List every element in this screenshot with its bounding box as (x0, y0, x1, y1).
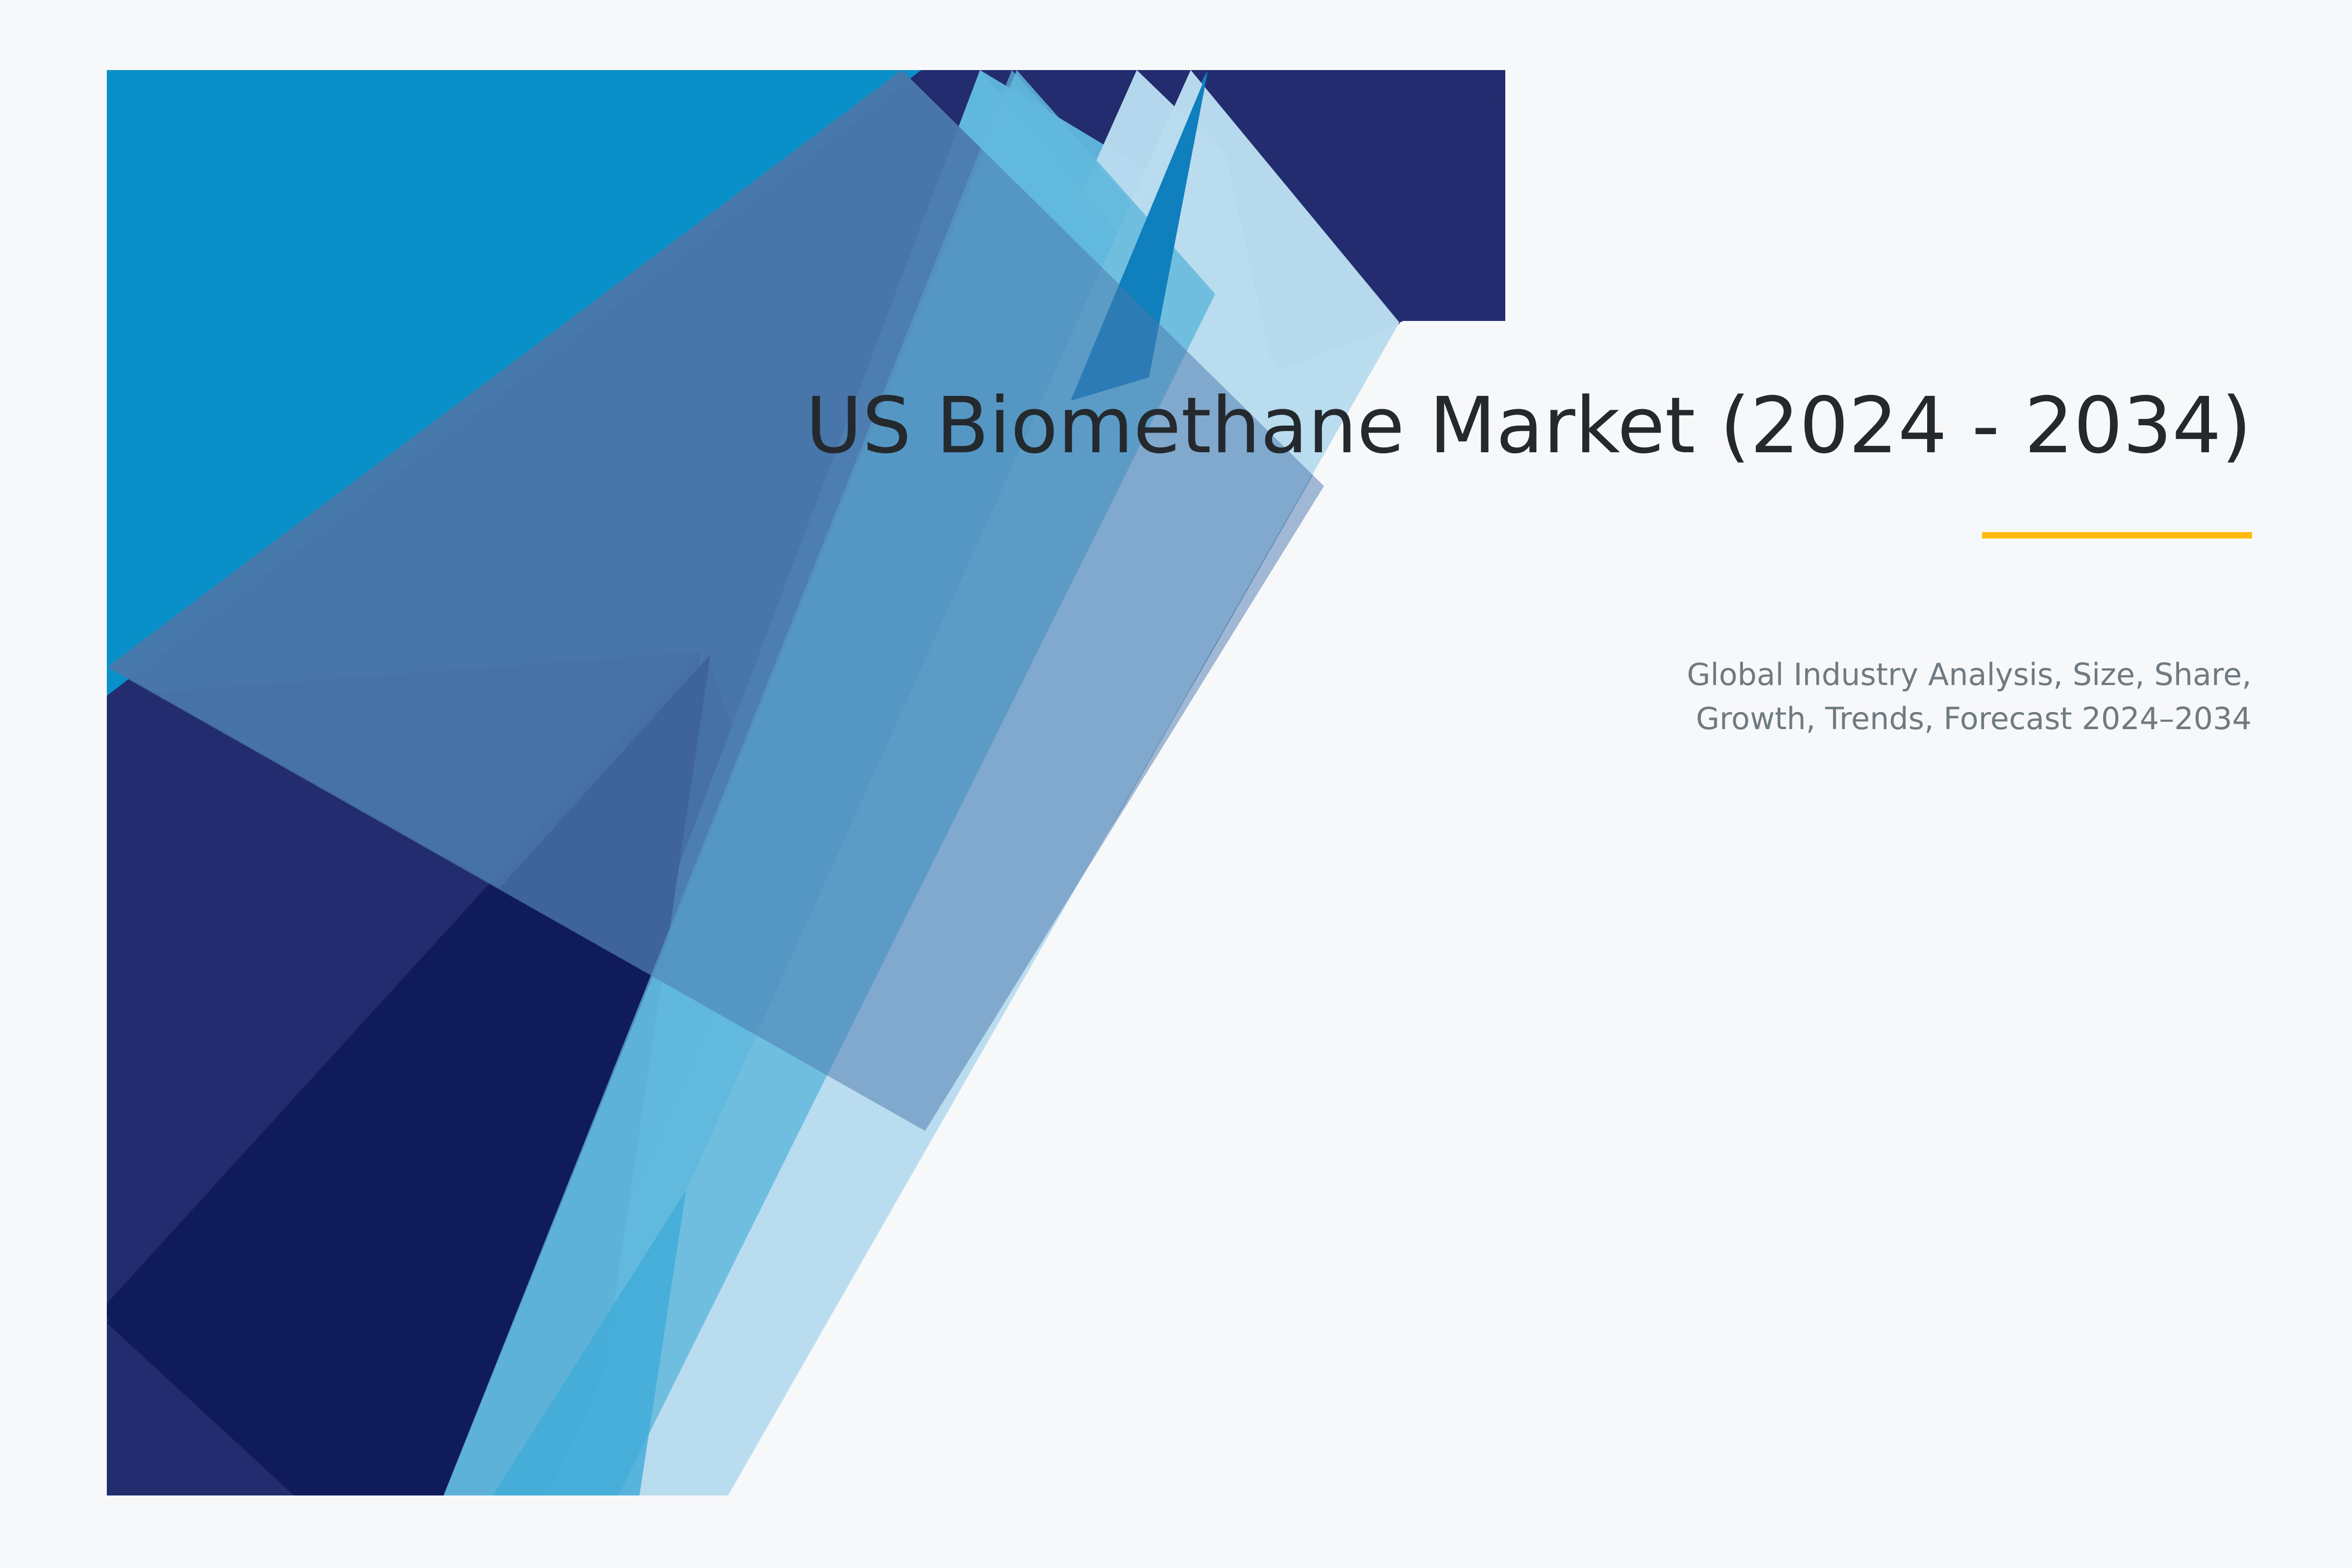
accent-rule (1982, 532, 2252, 539)
subtitle: Global Industry Analysis, Size, Share, G… (1448, 653, 2252, 741)
subtitle-line-2: Growth, Trends, Forecast 2024–2034 (1448, 697, 2252, 741)
slide-canvas: US Biomethane Market (2024 - 2034) Globa… (0, 0, 2352, 1568)
subtitle-line-1: Global Industry Analysis, Size, Share, (1448, 653, 2252, 697)
text-layer: US Biomethane Market (2024 - 2034) Globa… (0, 0, 2352, 1568)
page-title: US Biomethane Market (2024 - 2034) (684, 387, 2252, 465)
